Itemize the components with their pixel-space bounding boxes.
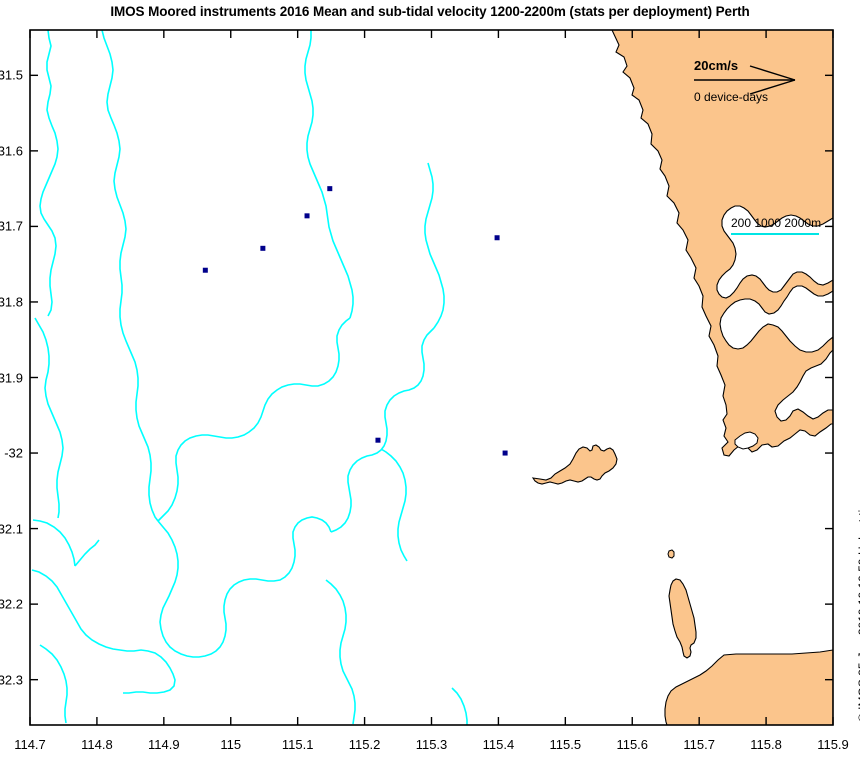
- x-tick-label: 115.3: [416, 737, 448, 752]
- x-axis-labels: 114.7114.8114.9115115.1115.2115.3115.411…: [0, 0, 860, 760]
- velocity-legend: 20cm/s 0 device-days: [694, 58, 814, 113]
- velocity-scale-label: 20cm/s: [694, 58, 738, 73]
- x-tick-label: 115.4: [483, 737, 515, 752]
- contour-legend-line: [731, 233, 819, 235]
- credit-text: © IMOS 25-Jan-2019 19:19:59 Hobart time: [840, 0, 860, 760]
- credit-label: © IMOS 25-Jan-2019 19:19:59 Hobart time: [856, 493, 860, 722]
- map-figure: IMOS Moored instruments 2016 Mean and su…: [0, 0, 860, 760]
- device-days-label: 0 device-days: [694, 90, 768, 104]
- x-tick-label: 115.5: [550, 737, 582, 752]
- x-tick-label: 115.7: [683, 737, 715, 752]
- x-tick-label: 115.6: [616, 737, 648, 752]
- x-tick-label: 115: [220, 737, 241, 752]
- contour-legend: 200 1000 2000m: [731, 216, 821, 235]
- contour-legend-label: 200 1000 2000m: [731, 216, 821, 230]
- x-tick-label: 114.8: [81, 737, 113, 752]
- x-tick-label: 115.2: [349, 737, 381, 752]
- x-tick-label: 115.1: [282, 737, 314, 752]
- x-tick-label: 115.8: [750, 737, 782, 752]
- x-tick-label: 114.9: [148, 737, 180, 752]
- x-tick-label: 114.7: [14, 737, 46, 752]
